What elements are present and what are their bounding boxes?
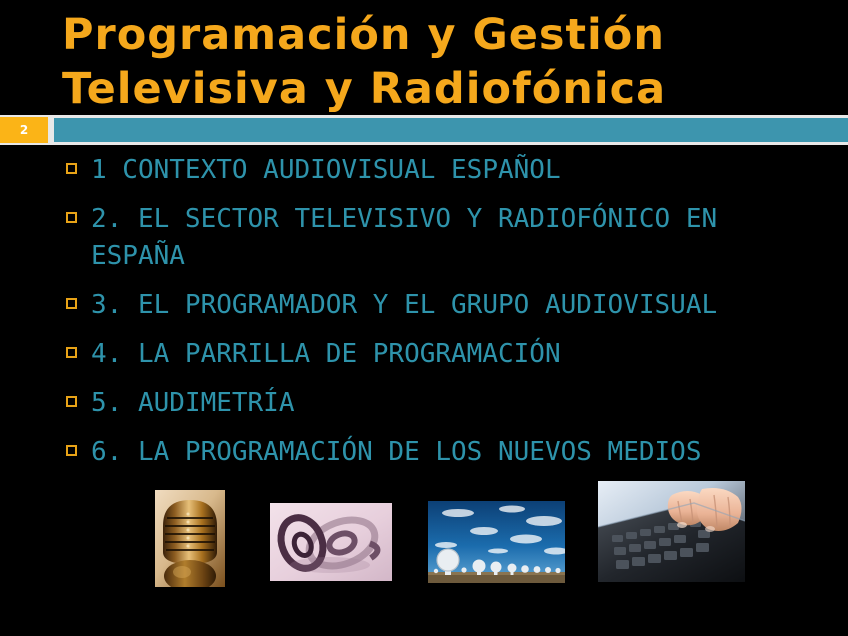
at-symbol-photo [270,503,392,581]
hollow-square-bullet-icon [66,298,77,309]
hands-typing-keyboard-photo [598,481,745,582]
hollow-square-bullet-icon [66,396,77,407]
page-title: Programación y Gestión Televisiva y Radi… [62,8,822,116]
slide-divider-band: 2 [0,115,848,145]
agenda-list: 1 CONTEXTO AUDIOVISUAL ESPAÑOL 2. EL SEC… [66,152,766,483]
list-item: 2. EL SECTOR TELEVISIVO Y RADIOFÓNICO EN… [66,201,766,275]
list-item-label: 5. AUDIMETRÍA [91,385,766,422]
list-item: 4. LA PARRILLA DE PROGRAMACIÓN [66,336,766,373]
hollow-square-bullet-icon [66,445,77,456]
list-item: 1 CONTEXTO AUDIOVISUAL ESPAÑOL [66,152,766,189]
hollow-square-bullet-icon [66,347,77,358]
list-item-label: 1 CONTEXTO AUDIOVISUAL ESPAÑOL [91,152,766,189]
list-item-label: 2. EL SECTOR TELEVISIVO Y RADIOFÓNICO EN… [91,201,766,275]
satellite-dishes-photo [428,501,565,583]
divider-rule [54,115,848,145]
list-item-label: 3. EL PROGRAMADOR Y EL GRUPO AUDIOVISUAL [91,287,766,324]
list-item-label: 4. LA PARRILLA DE PROGRAMACIÓN [91,336,766,373]
hollow-square-bullet-icon [66,163,77,174]
list-item-label: 6. LA PROGRAMACIÓN DE LOS NUEVOS MEDIOS [91,434,766,471]
list-item: 3. EL PROGRAMADOR Y EL GRUPO AUDIOVISUAL [66,287,766,324]
presentation-slide: Programación y Gestión Televisiva y Radi… [0,0,848,636]
page-number-badge: 2 [0,115,48,145]
list-item: 5. AUDIMETRÍA [66,385,766,422]
list-item: 6. LA PROGRAMACIÓN DE LOS NUEVOS MEDIOS [66,434,766,471]
vintage-microphone-photo [155,490,225,587]
hollow-square-bullet-icon [66,212,77,223]
